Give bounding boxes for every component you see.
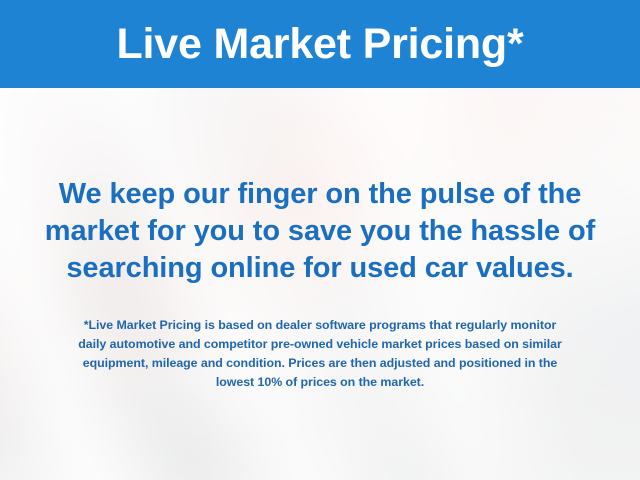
disclaimer-block: *Live Market Pricing is based on dealer … <box>20 316 620 392</box>
disclaimer-line-1: *Live Market Pricing is based on dealer … <box>20 316 620 335</box>
disclaimer-line-4: lowest 10% of prices on the market. <box>20 373 620 392</box>
headline-block: We keep our finger on the pulse of the m… <box>26 176 614 287</box>
content-area: We keep our finger on the pulse of the m… <box>0 88 640 480</box>
headline-line-1: We keep our finger on the pulse of the <box>26 176 614 213</box>
banner-title: Live Market Pricing* <box>116 23 523 66</box>
marketing-banner-graphic: Live Market Pricing* We keep our finger … <box>0 0 640 480</box>
disclaimer-line-2: daily automotive and competitor pre-owne… <box>20 335 620 354</box>
header-banner: Live Market Pricing* <box>0 0 640 88</box>
headline-line-3: searching online for used car values. <box>26 250 614 287</box>
disclaimer-line-3: equipment, mileage and condition. Prices… <box>20 354 620 373</box>
headline-line-2: market for you to save you the hassle of <box>26 213 614 250</box>
